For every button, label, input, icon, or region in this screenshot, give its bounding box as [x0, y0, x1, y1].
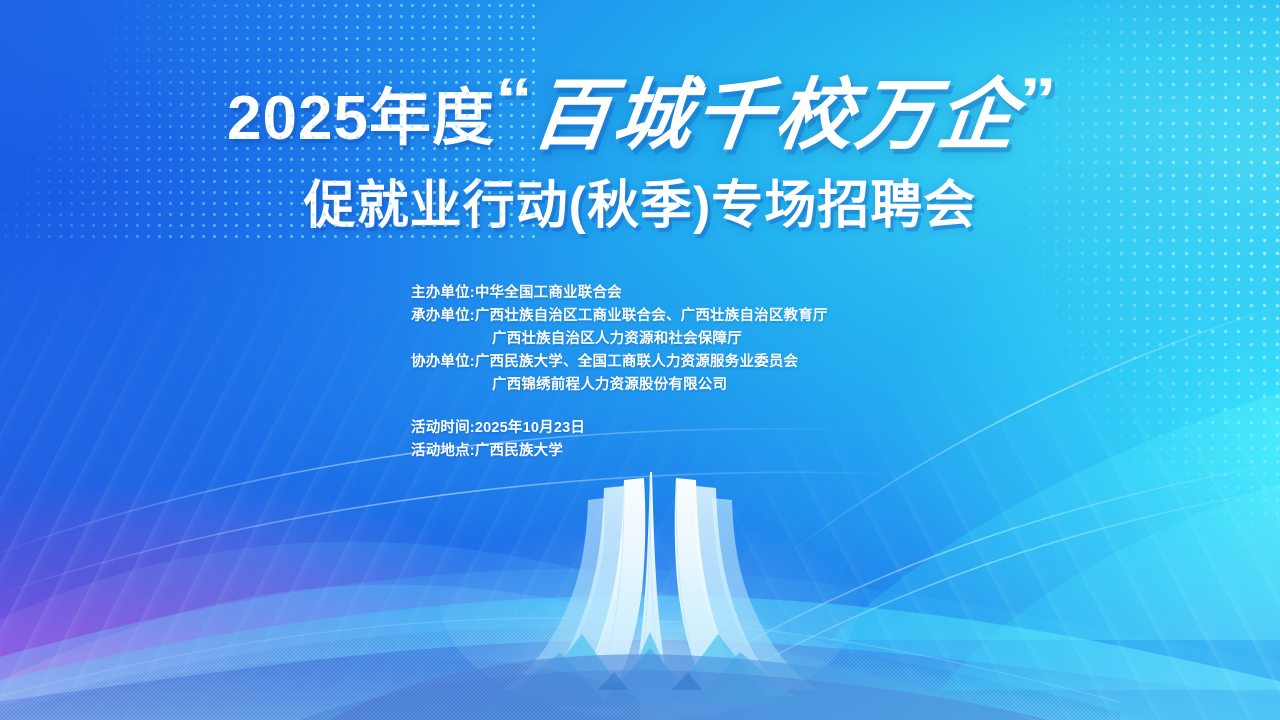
coorganizer-value-line2: 广西锦绣前程人力资源股份有限公司 — [411, 374, 828, 397]
host-label: 主办单位: — [411, 282, 475, 305]
organizer-label: 承办单位: — [411, 305, 475, 328]
title-year: 2025年度 — [227, 88, 495, 150]
place-value: 广西民族大学 — [475, 440, 563, 463]
host-value: 中华全国工商业联合会 — [475, 282, 622, 305]
poster-content: 2025年度 “ 百城千校万企 ” 促就业行动(秋季)专场招聘会 主办单位: 中… — [0, 0, 1280, 720]
time-label: 活动时间: — [411, 417, 475, 440]
main-title: 2025年度 “ 百城千校万企 ” — [0, 74, 1280, 152]
coorganizer-label: 协办单位: — [411, 351, 475, 374]
subtitle: 促就业行动(秋季)专场招聘会 — [0, 176, 1280, 236]
title-brush-text: 百城千校万企 — [528, 77, 1024, 155]
event-info-block: 主办单位: 中华全国工商业联合会 承办单位: 广西壮族自治区工商业联合会、广西壮… — [411, 282, 828, 463]
organizer-value-line2: 广西壮族自治区人力资源和社会保障厅 — [411, 328, 828, 351]
info-row-time: 活动时间: 2025年10月23日 — [411, 417, 828, 440]
organizer-value: 广西壮族自治区工商业联合会、广西壮族自治区教育厅 — [475, 305, 828, 328]
info-spacer — [411, 397, 828, 417]
poster-canvas: 2025年度 “ 百城千校万企 ” 促就业行动(秋季)专场招聘会 主办单位: 中… — [0, 0, 1280, 720]
place-label: 活动地点: — [411, 440, 475, 463]
title-quote-close: ” — [1019, 70, 1057, 130]
title-quote-open: “ — [495, 70, 533, 130]
time-value: 2025年10月23日 — [475, 417, 585, 440]
info-row-host: 主办单位: 中华全国工商业联合会 — [411, 282, 828, 305]
coorganizer-value: 广西民族大学、全国工商联人力资源服务业委员会 — [475, 351, 798, 374]
info-row-place: 活动地点: 广西民族大学 — [411, 440, 828, 463]
info-row-organizer: 承办单位: 广西壮族自治区工商业联合会、广西壮族自治区教育厅 — [411, 305, 828, 328]
info-row-coorganizer: 协办单位: 广西民族大学、全国工商联人力资源服务业委员会 — [411, 351, 828, 374]
